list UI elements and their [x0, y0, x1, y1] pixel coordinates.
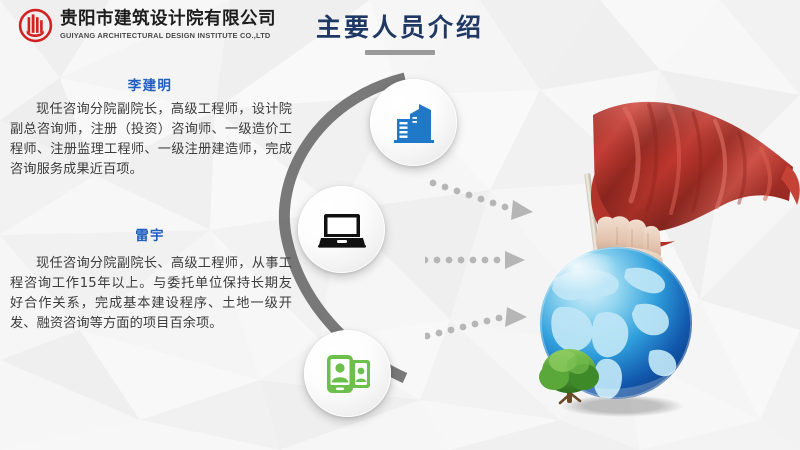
page-title: 主要人员介绍	[240, 14, 560, 55]
node-building[interactable]	[370, 79, 457, 166]
header: 贵阳市建筑设计院有限公司 GUIYANG ARCHITECTURAL DESIG…	[0, 0, 800, 62]
laptop-icon	[318, 210, 366, 250]
node-laptop[interactable]	[298, 186, 385, 273]
id-cards-icon	[324, 352, 372, 396]
slide-root: 贵阳市建筑设计院有限公司 GUIYANG ARCHITECTURAL DESIG…	[0, 0, 800, 450]
person-name: 雷宇	[0, 228, 300, 244]
person-card-2: 雷宇 现任咨询分院副院长、高级工程师，从事工程咨询工作15年以上。与委托单位保持…	[0, 228, 300, 334]
person-name: 李建明	[0, 78, 300, 94]
node-id-cards[interactable]	[304, 330, 391, 417]
building-icon	[391, 100, 437, 146]
person-bio: 现任咨询分院副院长，高级工程师，设计院副总咨询师，注册（投资）咨询师、一级造价工…	[0, 100, 300, 180]
company-seal-logo-icon	[18, 8, 53, 43]
person-bio: 现任咨询分院副院长、高级工程师，从事工程咨询工作15年以上。与委托单位保持长期友…	[0, 254, 300, 334]
person-card-1: 李建明 现任咨询分院副院长，高级工程师，设计院副总咨询师，注册（投资）咨询师、一…	[0, 78, 300, 180]
globe-earth-image	[530, 243, 708, 421]
company-logo[interactable]: 贵阳市建筑设计院有限公司 GUIYANG ARCHITECTURAL DESIG…	[18, 8, 276, 43]
page-title-text: 主要人员介绍	[240, 14, 560, 42]
title-underline	[365, 50, 435, 55]
